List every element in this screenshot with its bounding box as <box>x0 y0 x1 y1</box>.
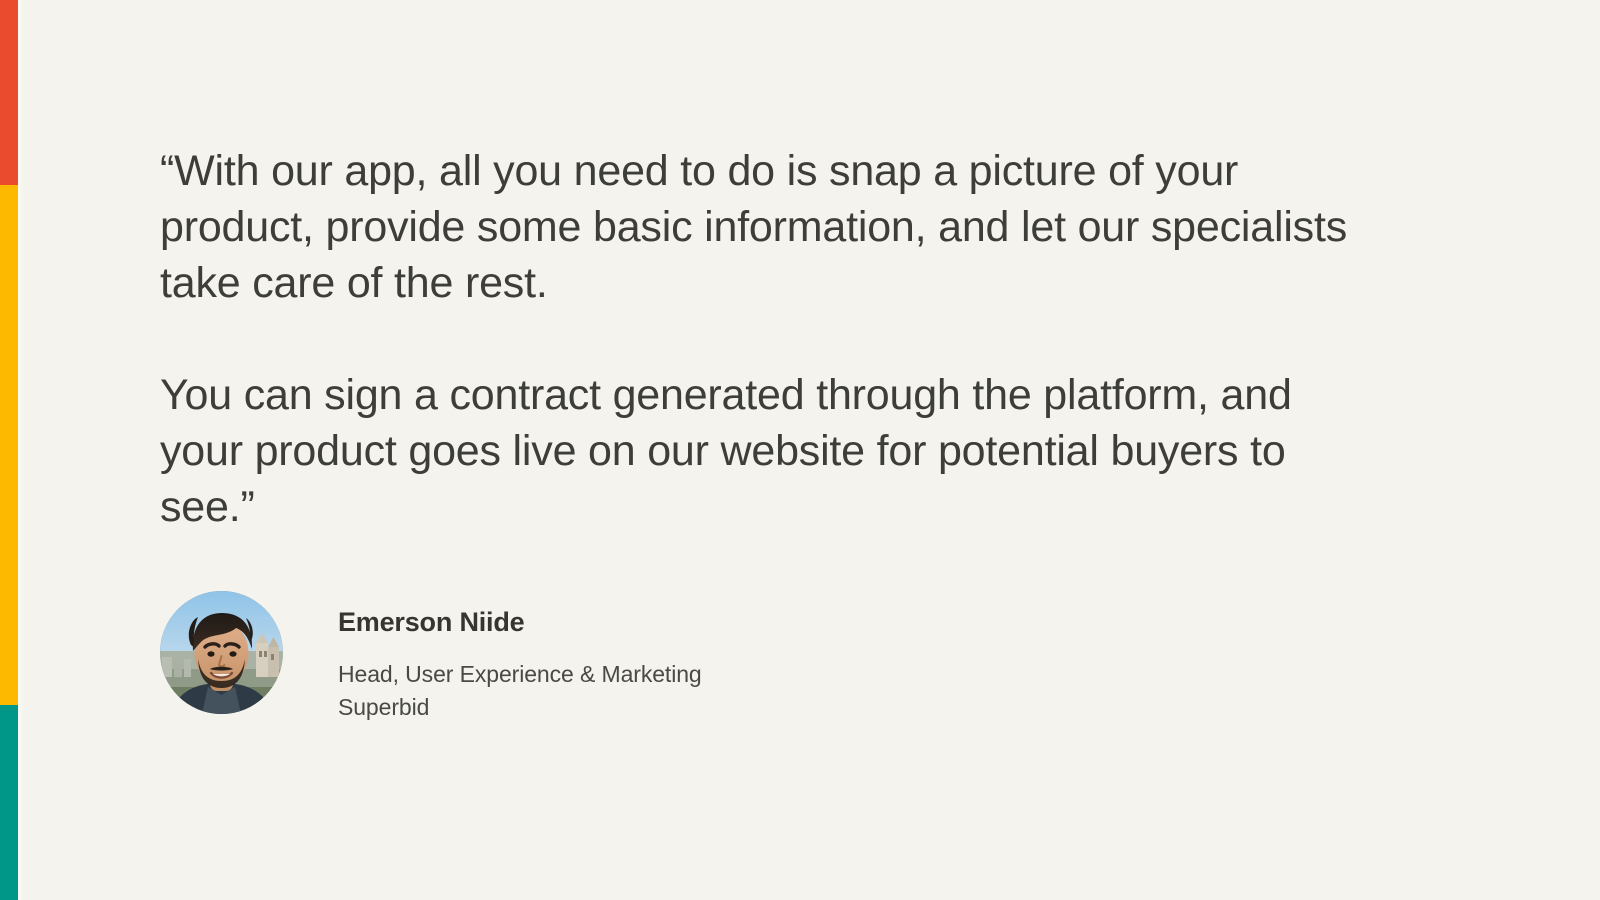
testimonial-content: “With our app, all you need to do is sna… <box>160 0 1540 900</box>
author-name: Emerson Niide <box>338 605 702 639</box>
avatar-photo <box>160 591 283 714</box>
author-details: Emerson Niide Head, User Experience & Ma… <box>338 591 702 724</box>
left-accent-bar <box>0 0 18 900</box>
accent-band-teal <box>0 705 18 900</box>
accent-bar-edge-highlight <box>18 0 24 900</box>
author-role: Head, User Experience & Marketing <box>338 658 702 691</box>
author-attribution: Emerson Niide Head, User Experience & Ma… <box>160 591 702 724</box>
quote-text: “With our app, all you need to do is sna… <box>160 143 1380 535</box>
accent-band-red <box>0 0 18 185</box>
testimonial-card: “With our app, all you need to do is sna… <box>0 0 1600 900</box>
accent-band-yellow <box>0 185 18 705</box>
author-company: Superbid <box>338 691 702 724</box>
avatar <box>160 591 283 714</box>
